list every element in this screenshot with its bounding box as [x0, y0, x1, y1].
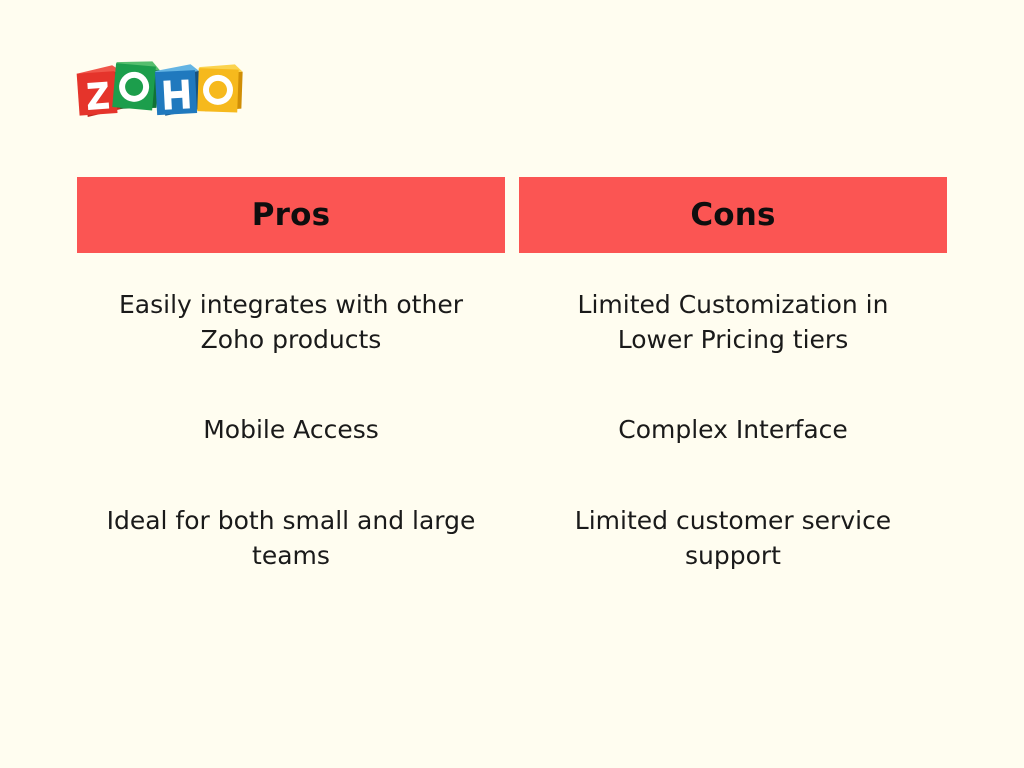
table-header-pros: Pros — [77, 177, 505, 253]
zoho-logo — [74, 56, 254, 122]
logo-block-o-green — [112, 58, 160, 112]
logo-block-h — [155, 64, 202, 116]
table-cell-pros-3: Ideal for both small and large teams — [77, 483, 505, 593]
table-cell-cons-1: Limited Customization in Lower Pricing t… — [519, 267, 947, 377]
pros-cons-table: Pros Cons Easily integrates with other Z… — [77, 177, 947, 593]
table-cell-cons-2: Complex Interface — [519, 391, 947, 469]
logo-block-o-yellow — [197, 63, 243, 113]
table-cell-cons-3: Limited customer service support — [519, 483, 947, 593]
table-cell-pros-1: Easily integrates with other Zoho produc… — [77, 267, 505, 377]
table-cell-pros-2: Mobile Access — [77, 391, 505, 469]
table-header-cons: Cons — [519, 177, 947, 253]
